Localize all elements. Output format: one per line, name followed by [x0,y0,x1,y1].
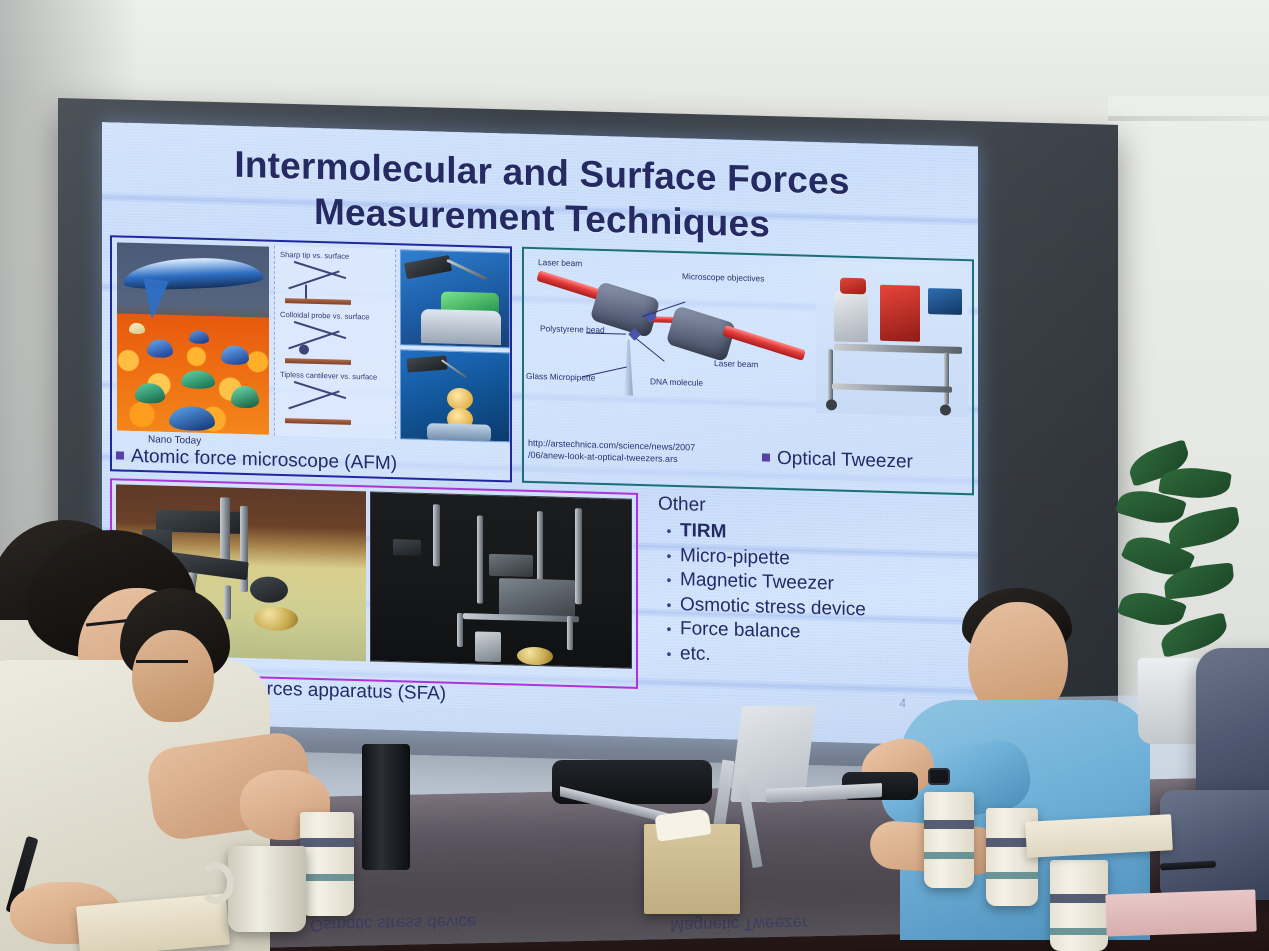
paper-cup [1050,860,1108,951]
bullet-dot-icon: • [658,522,680,539]
ceiling-band [0,0,1269,104]
sfa-photo-right [370,491,632,668]
paper-cup [300,812,354,916]
afm-caption: Atomic force microscope (AFM) [116,445,510,478]
bullet-dot-icon: • [658,645,680,662]
afm-schematic: Sharp tip vs. surface Colloidal probe vs… [274,246,396,439]
bullet-dot-icon: • [658,571,680,588]
slide-surface: Intermolecular and Surface Forces Measur… [102,122,978,746]
ot-label-dna: DNA molecule [650,376,703,387]
paper-cup [924,792,974,888]
other-methods-list: Other • TIRM • Micro-pipette • Magnetic … [658,493,958,674]
optical-tweezer-panel: Laser beam Microscope objectives Polysty… [522,247,974,496]
thermos [362,744,410,870]
bullet-dot-icon: • [658,620,680,637]
photo-scene: Intermolecular and Surface Forces Measur… [0,0,1269,951]
bullet-dot-icon: • [658,596,680,613]
pink-pad [1105,889,1256,936]
ot-label-laser-beam-2: Laser beam [714,358,758,369]
optical-tweezer-caption: Optical Tweezer [762,447,913,473]
bullet-dot-icon: • [658,547,680,564]
mug-handle [198,862,234,904]
bullet-square-icon [116,451,124,459]
afm-caption-text: Atomic force microscope (AFM) [131,446,397,474]
afm-photo-credit: Nano Today [148,434,201,446]
ceramic-mug [228,846,306,932]
other-item-etc: etc. [680,643,711,666]
eyeglasses-icon [136,660,188,663]
afm-label-tipless-cantilever: Tipless cantilever vs. surface [280,370,377,382]
ot-label-laser-beam-1: Laser beam [538,257,582,268]
afm-illustration [117,242,269,434]
ot-label-objectives: Microscope objectives [682,271,764,283]
presentation-slide: Intermolecular and Surface Forces Measur… [102,122,978,746]
optical-tweezer-source-url: http://arstechnica.com/science/news/2007… [528,437,695,466]
optical-tweezer-schematic: Laser beam Microscope objectives Polysty… [524,249,814,447]
afm-label-sharp-tip: Sharp tip vs. surface [280,250,349,261]
other-item-magnetic-tweezer: Magnetic Tweezer [680,569,834,595]
optical-tweezer-lab-photo [816,261,968,417]
other-item-osmotic-stress-device: Osmotic stress device [680,594,866,621]
afm-instrument-render-top [400,249,510,348]
wall-seam [1108,116,1269,121]
documents [1025,814,1173,858]
wristwatch [928,768,950,785]
ot-label-micropipette: Glass Micropipette [526,371,595,383]
slide-title: Intermolecular and Surface Forces Measur… [162,140,922,251]
reflected-text-b: Magnetic Tweezer [670,912,808,935]
other-heading: Other [658,493,958,523]
other-item-micro-pipette: Micro-pipette [680,545,790,570]
other-item-force-balance: Force balance [680,618,800,643]
office-chair-seat [1160,790,1269,900]
afm-instrument-render-bottom [400,349,510,442]
other-item-tirm: TIRM [680,520,726,543]
ot-caption-text: Optical Tweezer [777,448,913,473]
afm-panel: Nano Today Sharp tip vs. surface Colloid… [110,235,512,482]
ot-label-bead: Polystyrene bead [540,323,605,335]
bullet-square-icon [762,453,770,461]
